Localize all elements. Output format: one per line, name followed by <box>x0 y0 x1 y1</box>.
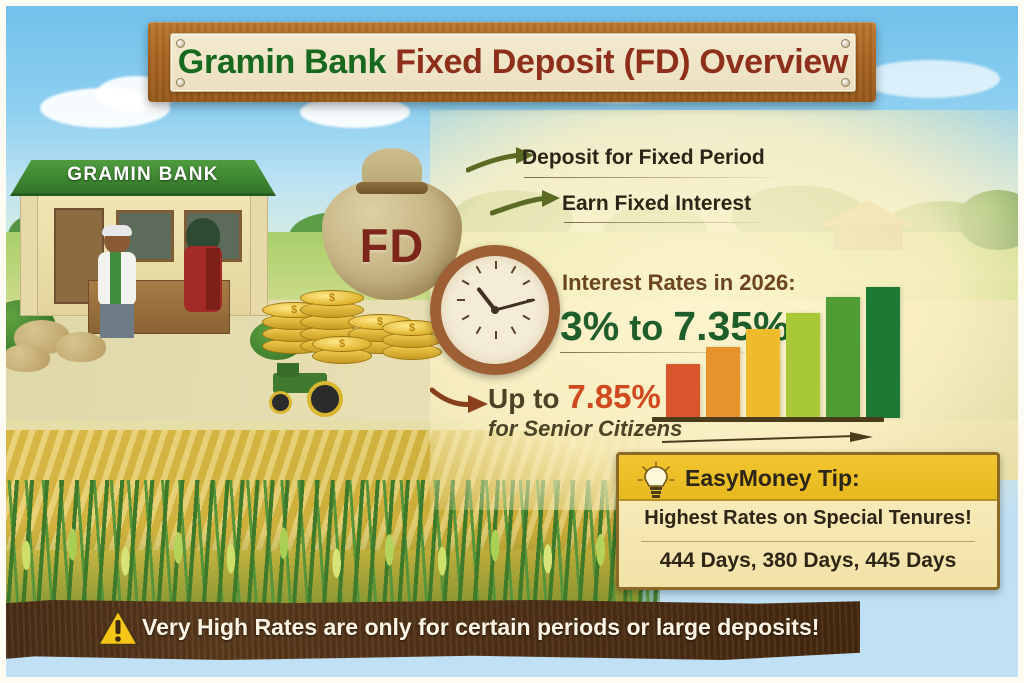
fd-bag-label: FD <box>322 218 462 273</box>
senior-prefix: Up to <box>488 383 560 414</box>
grain-sack <box>2 344 50 372</box>
bank-illustration: GRAMIN BANK <box>18 160 268 335</box>
screw-icon <box>176 78 185 87</box>
title-brand: Gramin Bank <box>178 43 386 81</box>
cloud-icon <box>860 60 1000 98</box>
clock-icon <box>430 245 560 375</box>
chart-bar <box>746 329 780 418</box>
lightbulb-icon <box>637 461 675 499</box>
infographic-poster: Gramin Bank Fixed Deposit (FD) Overview … <box>0 0 1024 683</box>
rate-joiner: to <box>629 307 663 348</box>
chart-bar <box>706 347 740 418</box>
warning-text: Very High Rates are only for certain per… <box>142 614 819 641</box>
senior-rate-line: Up to 7.85% <box>488 378 661 416</box>
crop-leaves <box>0 495 660 605</box>
easymoney-tip-box: EasyMoney Tip: Highest Rates on Special … <box>616 452 1000 590</box>
rate-low: 3% <box>560 303 619 349</box>
teller-figure <box>182 222 228 334</box>
customer-figure <box>94 228 140 336</box>
title-rest: Fixed Deposit (FD) Overview <box>395 43 848 81</box>
warning-triangle-icon <box>96 608 140 648</box>
chart-bar <box>826 297 860 418</box>
trend-arrow-icon <box>660 432 875 444</box>
bank-pillar <box>20 194 38 316</box>
arrow-curved-icon <box>430 382 492 416</box>
chart-bar <box>866 287 900 418</box>
tip-divider <box>641 541 975 542</box>
page-title: Gramin Bank Fixed Deposit (FD) Overview <box>178 43 848 82</box>
screw-icon <box>841 78 850 87</box>
title-plaque: Gramin Bank Fixed Deposit (FD) Overview <box>170 33 856 92</box>
rates-bar-chart <box>660 255 900 440</box>
chart-baseline <box>652 417 884 422</box>
tip-title: EasyMoney Tip: <box>685 465 860 492</box>
senior-rate: 7.85% <box>567 378 661 415</box>
chart-bar <box>786 313 820 418</box>
tip-line-1: Highest Rates on Special Tenures! <box>619 507 997 530</box>
screw-icon <box>176 39 185 48</box>
coin-stack: $ <box>312 330 370 364</box>
arrow-right-icon <box>490 186 564 220</box>
chart-bar <box>666 364 700 418</box>
tip-line-2: 444 Days, 380 Days, 445 Days <box>619 549 997 573</box>
grain-sack <box>56 332 106 362</box>
feature-label-0: Deposit for Fixed Period <box>522 146 765 170</box>
tractor-icon <box>263 365 341 413</box>
bank-signboard-label: GRAMIN BANK <box>18 164 268 186</box>
feature-label-1: Earn Fixed Interest <box>562 192 751 216</box>
screw-icon <box>841 39 850 48</box>
feature-divider <box>564 222 764 223</box>
feature-divider <box>524 177 774 178</box>
